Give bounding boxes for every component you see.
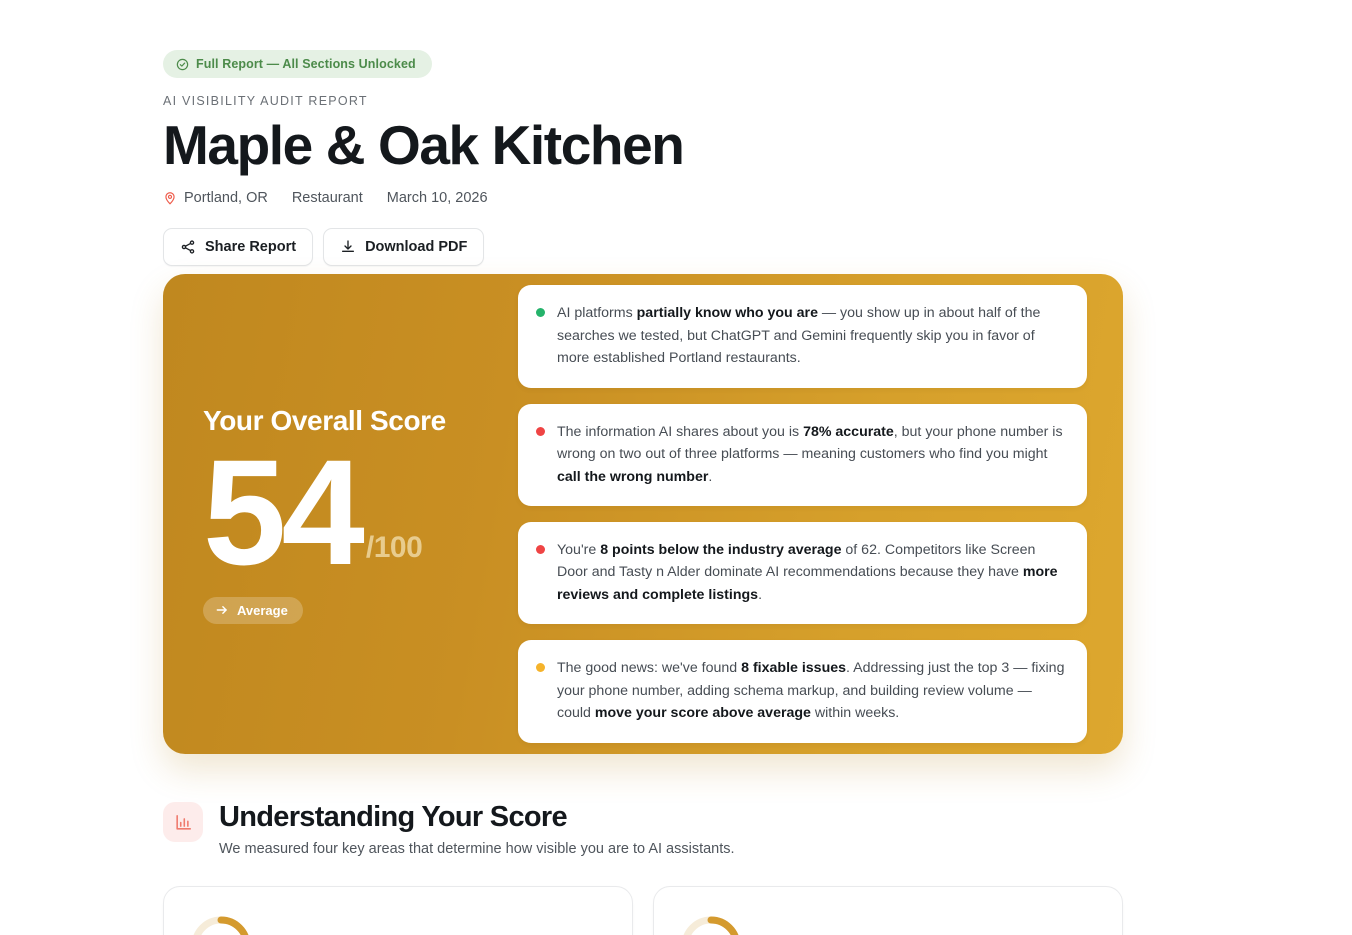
meta-location: Portland, OR [184, 190, 268, 206]
insight-card: The information AI shares about you is 7… [518, 404, 1087, 506]
insight-text: You're 8 points below the industry avera… [557, 539, 1065, 606]
score-tier-badge: Average [203, 597, 303, 624]
report-eyebrow: AI VISIBILITY AUDIT REPORT [163, 94, 1163, 108]
report-meta: Portland, OR Restaurant March 10, 2026 [163, 190, 1163, 206]
insight-status-dot [536, 663, 545, 672]
understanding-section: Understanding Your Score We measured fou… [163, 802, 1163, 857]
bar-chart-icon [163, 802, 203, 842]
header-actions: Share Report Download PDF [163, 228, 1163, 266]
score-summary: Your Overall Score 54 /100 Average [163, 405, 518, 624]
status-badge-label: Full Report — All Sections Unlocked [196, 57, 416, 71]
insight-text: The good news: we've found 8 fixable iss… [557, 657, 1065, 724]
arrow-right-icon [215, 603, 229, 617]
section-subtitle: We measured four key areas that determin… [219, 841, 735, 857]
share-report-label: Share Report [205, 239, 296, 255]
pillar-progress-ring [680, 915, 742, 935]
insight-text: AI platforms partially know who you are … [557, 302, 1065, 369]
insight-status-dot [536, 427, 545, 436]
download-pdf-button[interactable]: Download PDF [323, 228, 484, 266]
insight-card: AI platforms partially know who you are … [518, 285, 1087, 387]
pillar-progress-ring [190, 915, 252, 935]
insight-card: You're 8 points below the industry avera… [518, 522, 1087, 624]
report-page: Full Report — All Sections Unlocked AI V… [0, 0, 1352, 935]
insight-status-dot [536, 545, 545, 554]
map-pin-icon [163, 191, 175, 205]
section-header: Understanding Your Score We measured fou… [163, 802, 1163, 857]
insight-list: AI platforms partially know who you are … [518, 285, 1123, 742]
insight-text: The information AI shares about you is 7… [557, 421, 1065, 488]
overall-score-panel: Your Overall Score 54 /100 Average AI pl… [163, 274, 1123, 754]
share-report-button[interactable]: Share Report [163, 228, 313, 266]
page-title: Maple & Oak Kitchen [163, 117, 1163, 175]
score-denominator: /100 [366, 531, 422, 565]
pillar-card-grid: DiscoveryAccuracy [163, 886, 1123, 935]
insight-status-dot [536, 308, 545, 317]
pillar-card[interactable]: Accuracy [653, 886, 1123, 935]
download-pdf-label: Download PDF [365, 239, 467, 255]
section-title: Understanding Your Score [219, 802, 735, 834]
share-icon [180, 239, 196, 255]
meta-category: Restaurant [292, 190, 363, 206]
score-value-row: 54 /100 [203, 443, 518, 581]
check-circle-icon [176, 58, 189, 71]
status-badge: Full Report — All Sections Unlocked [163, 50, 432, 78]
score-tier-label: Average [237, 603, 288, 618]
insight-card: The good news: we've found 8 fixable iss… [518, 640, 1087, 742]
report-header: Full Report — All Sections Unlocked AI V… [163, 50, 1163, 266]
section-title-group: Understanding Your Score We measured fou… [219, 802, 735, 857]
download-icon [340, 239, 356, 255]
pillar-card[interactable]: Discovery [163, 886, 633, 935]
score-value: 54 [203, 443, 360, 581]
meta-date: March 10, 2026 [387, 190, 488, 206]
